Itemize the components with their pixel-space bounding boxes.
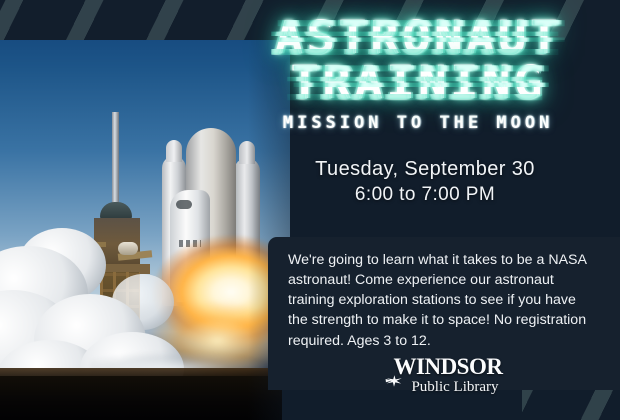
event-date: Tuesday, September 30 (240, 158, 610, 181)
event-description: We're going to learn what it takes to be… (288, 250, 588, 351)
title-block: ASTRONAUT TRAINING MISSION TO THE MOON (226, 16, 610, 133)
tower-mast (112, 112, 119, 204)
event-time: 6:00 to 7:00 PM (240, 184, 610, 206)
event-poster: ASTRONAUT TRAINING MISSION TO THE MOON T… (0, 0, 620, 420)
title-line-1: ASTRONAUT (214, 16, 620, 59)
orbiter-window (176, 200, 192, 209)
event-date-block: Tuesday, September 30 6:00 to 7:00 PM (240, 158, 610, 206)
title-line-2: TRAINING (214, 61, 620, 104)
title-line-1-text: ASTRONAUT (274, 16, 561, 59)
title-line-2-text: TRAINING (290, 61, 545, 104)
poster-subtitle: MISSION TO THE MOON (226, 113, 610, 133)
foreground-shadow (0, 376, 290, 420)
library-logo: WINDSOR Public Library (378, 355, 518, 391)
star-bird-icon (385, 374, 403, 388)
